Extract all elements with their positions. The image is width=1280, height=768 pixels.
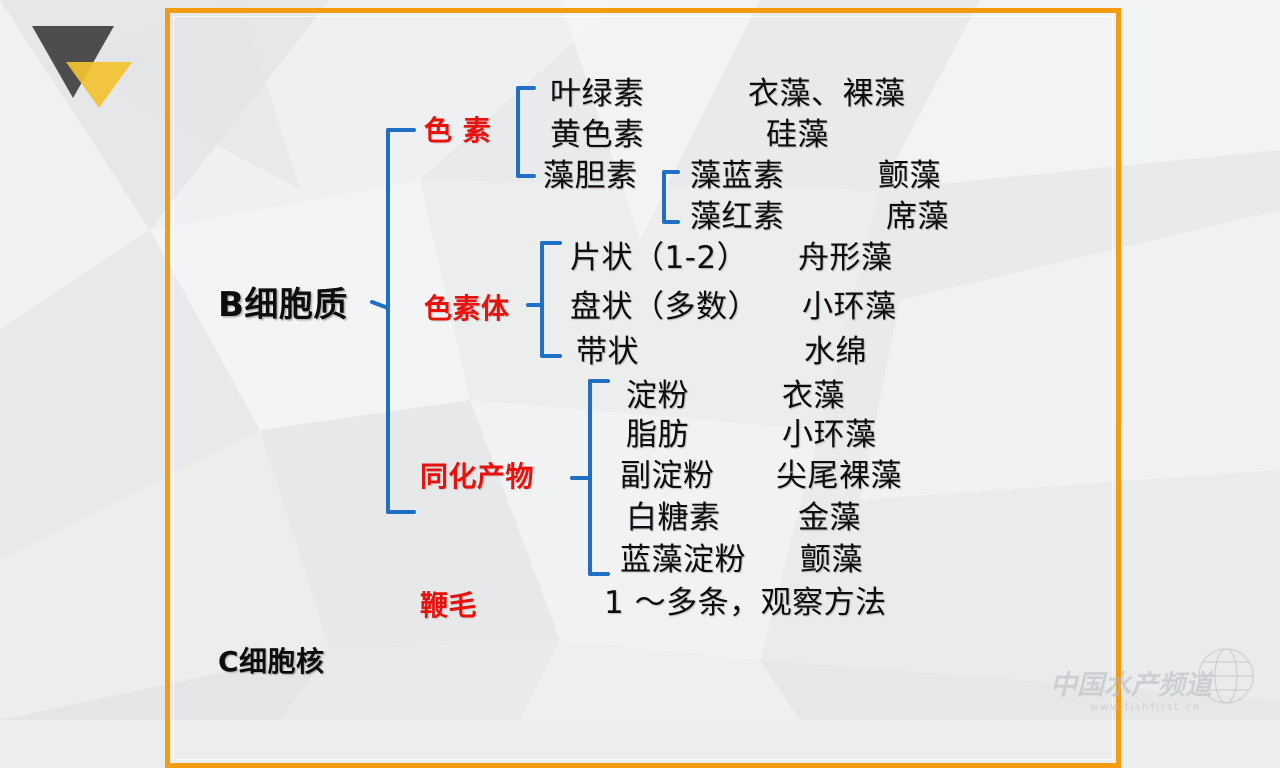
pigment-row-1-example: 硅藻 [766,120,829,151]
assimilate-row-4-name: 蓝藻淀粉 [620,545,746,576]
plastid-row-2-name: 带状 [576,337,639,368]
plastid-row-1-name: 盘状（多数） [570,292,759,323]
pigment-row-2-name: 藻胆素 [543,161,638,192]
assimilate-row-0-name: 淀粉 [626,381,689,412]
assimilate-row-3-name: 白糖素 [626,503,721,534]
phycobilin-row-0-name: 藻蓝素 [690,161,785,192]
pigment-row-0-example: 衣藻、裸藻 [748,79,906,110]
category-label-flagellum: 鞭毛 [420,592,477,620]
pigment-row-0-name: 叶绿素 [550,79,645,110]
category-label-assimilate: 同化产物 [420,463,534,491]
phycobilin-row-1-name: 藻红素 [690,202,785,233]
assimilate-row-4-example: 颤藻 [800,545,863,576]
section-label-nucleus: C细胞核 [218,648,325,676]
flagellum-description: 1 ～多条，观察方法 [604,588,887,619]
plastid-row-0-example: 舟形藻 [798,243,893,274]
assimilate-row-0-example: 衣藻 [782,381,845,412]
category-label-plastid: 色素体 [424,295,510,323]
plastid-row-1-example: 小环藻 [802,292,897,323]
phycobilin-row-0-example: 颤藻 [878,161,941,192]
category-label-pigment: 色 素 [424,117,491,145]
assimilate-row-3-example: 金藻 [798,503,861,534]
plastid-row-2-example: 水绵 [804,337,867,368]
assimilate-row-2-name: 副淀粉 [620,461,715,492]
watermark: 中国水产频道 www.fishfirst.cn [1040,640,1280,720]
phycobilin-row-1-example: 席藻 [886,202,949,233]
watermark-url: www.fishfirst.cn [1090,702,1201,713]
assimilate-row-2-example: 尖尾裸藻 [776,461,902,492]
pigment-row-1-name: 黄色素 [550,120,645,151]
section-label-cytoplasm: B细胞质 [218,288,348,322]
plastid-row-0-name: 片状（1-2） [570,243,748,274]
assimilate-row-1-example: 小环藻 [782,420,877,451]
assimilate-row-1-name: 脂肪 [626,420,689,451]
watermark-title: 中国水产频道 [1050,670,1216,701]
